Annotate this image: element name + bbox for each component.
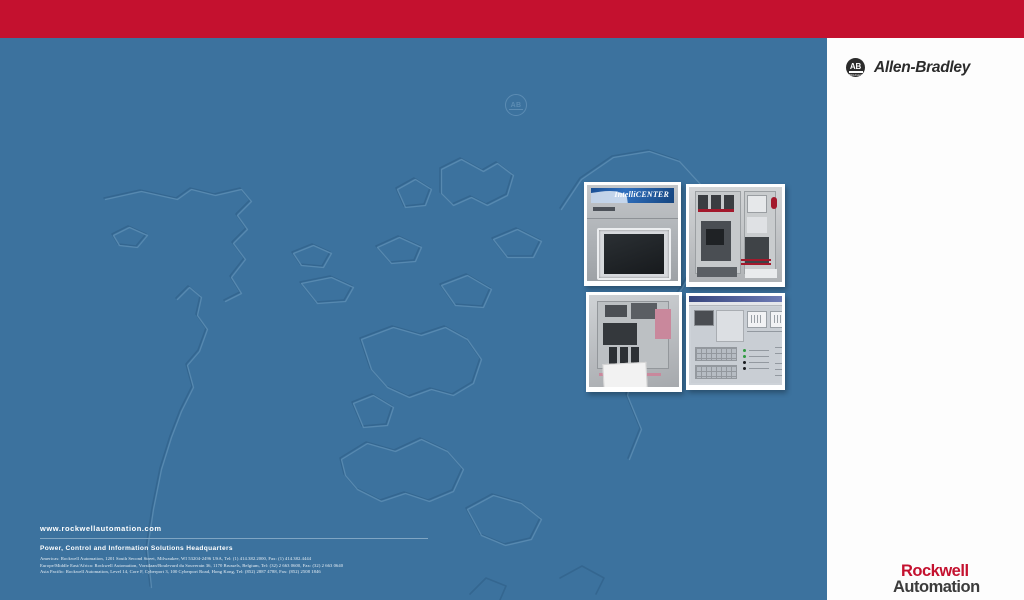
address-emea: Europe/Middle East/Africa: Rockwell Auto… xyxy=(40,563,440,570)
allen-bradley-logo: AB ALLEN-BRADLEY Allen-Bradley xyxy=(846,58,970,77)
contactor-assembly xyxy=(589,295,679,387)
device-info-panel xyxy=(716,310,744,342)
automation-wordmark: Automation xyxy=(893,579,980,596)
brochure-back-cover-page: AB IntelliCENTER xyxy=(0,0,1024,600)
window-menubar xyxy=(689,302,782,306)
ab-badge-subtext: ALLEN-BRADLEY xyxy=(846,71,865,77)
allen-bradley-watermark-icon: AB xyxy=(505,94,527,116)
footer-heading: Power, Control and Information Solutions… xyxy=(40,545,440,552)
spec-slip-sheet xyxy=(602,362,647,387)
hmi-touchscreen xyxy=(597,228,671,280)
top-red-band xyxy=(0,0,1024,38)
white-cover-panel xyxy=(827,38,1024,600)
ab-watermark-text: AB xyxy=(511,102,522,109)
data-grid-bottom xyxy=(695,365,737,379)
cabinet-banner: IntelliCENTER xyxy=(591,188,674,203)
blue-cover-panel: AB IntelliCENTER xyxy=(0,38,827,600)
website-url[interactable]: www.rockwellautomation.com xyxy=(40,524,440,538)
ab-badge-text: AB xyxy=(850,62,861,71)
address-asia-pacific: Asia Pacific: Rockwell Automation, Level… xyxy=(40,569,440,576)
software-window xyxy=(689,296,782,385)
data-grid-top xyxy=(695,347,737,361)
photo-intellicenter-hmi-cabinet: IntelliCENTER xyxy=(584,182,681,286)
cabinet-nameplate xyxy=(593,207,615,211)
footer-contact-block: www.rockwellautomation.com Power, Contro… xyxy=(40,524,440,576)
ab-watermark-bar xyxy=(509,109,523,110)
footer-divider xyxy=(40,538,428,539)
cabinet-seam xyxy=(587,218,678,219)
allen-bradley-wordmark: Allen-Bradley xyxy=(874,59,970,77)
photo-mcc-bucket-components xyxy=(686,184,785,287)
intellicenter-banner-text: IntelliCENTER xyxy=(614,190,669,199)
gauge-1 xyxy=(747,311,767,328)
ab-badge-icon: AB ALLEN-BRADLEY xyxy=(846,58,865,77)
gauge-2 xyxy=(770,311,782,328)
photo-contactor-wiring-assembly xyxy=(586,292,682,392)
rockwell-wordmark: Rockwell xyxy=(901,563,980,579)
mcc-bucket xyxy=(689,187,782,282)
product-photo-collage: IntelliCENTER xyxy=(584,182,788,394)
photo-intellicenter-software-screen xyxy=(686,293,785,390)
device-thumbnail xyxy=(694,310,714,326)
address-americas: Americas: Rockwell Automation, 1201 Sout… xyxy=(40,556,440,563)
window-canvas xyxy=(691,307,780,383)
rockwell-automation-logo: Rockwell Automation xyxy=(893,563,980,596)
